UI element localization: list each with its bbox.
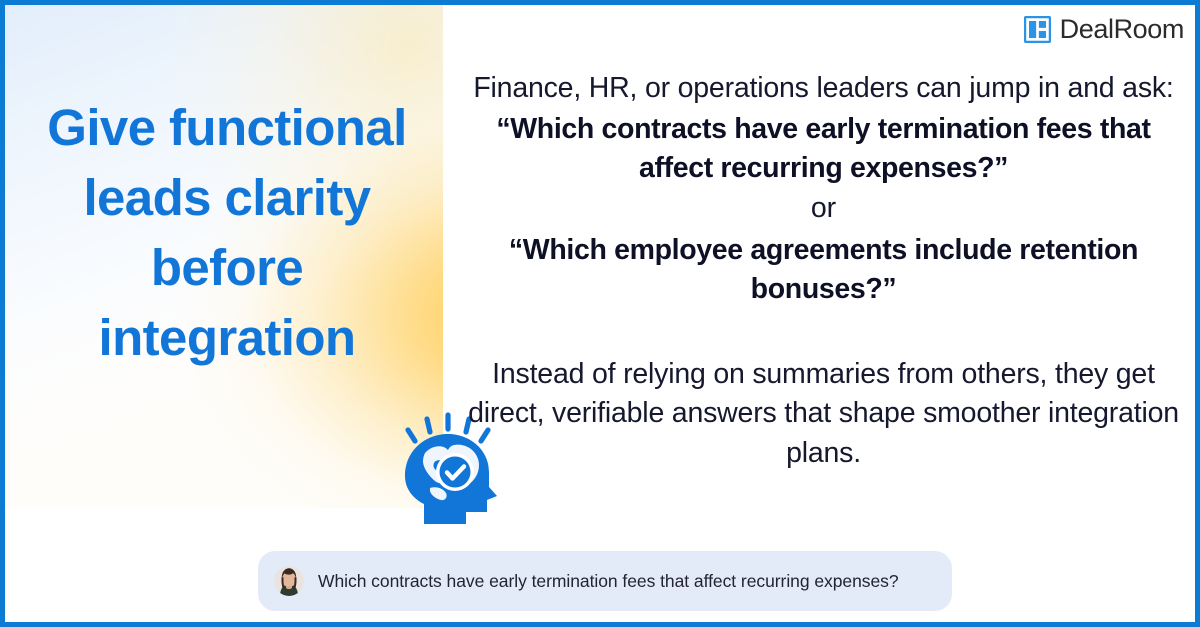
- dealroom-panel-logo-icon: [1024, 16, 1051, 43]
- brand-logo[interactable]: DealRoom: [1024, 16, 1184, 43]
- quote-two: “Which employee agreements include reten…: [457, 231, 1190, 309]
- intro-text: Finance, HR, or operations leaders can j…: [457, 69, 1190, 108]
- quote-connector: or: [457, 189, 1190, 228]
- slide-canvas: DealRoom Give functional leads clarity b…: [0, 0, 1200, 627]
- chat-message-text: Which contracts have early termination f…: [318, 571, 899, 592]
- page-title: Give functional leads clarity before int…: [17, 93, 437, 372]
- quote-one: “Which contracts have early termination …: [457, 110, 1190, 188]
- closing-text: Instead of relying on summaries from oth…: [457, 355, 1190, 474]
- chat-message-bubble[interactable]: Which contracts have early termination f…: [258, 551, 952, 611]
- brand-name: DealRoom: [1060, 16, 1184, 43]
- user-avatar-photo-icon: [274, 566, 304, 596]
- message-column: Finance, HR, or operations leaders can j…: [457, 69, 1190, 474]
